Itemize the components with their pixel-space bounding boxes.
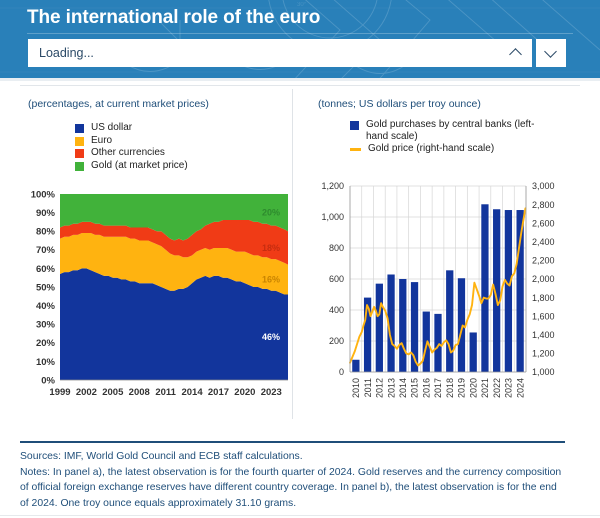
header-rule <box>27 33 573 34</box>
panel-b-ytick-right: 1,200 <box>532 349 555 359</box>
panel-a-ytick: 20% <box>36 338 56 349</box>
legend-item: Gold price (right-hand scale) <box>350 143 555 155</box>
legend-label: US dollar <box>91 122 132 134</box>
panel-b-ytick-right: 1,400 <box>532 330 555 340</box>
panel-b-xtick: 2021 <box>480 378 490 398</box>
panel-b-bar <box>470 332 477 372</box>
panel-a-end-label: 46% <box>262 332 280 342</box>
panel-a-legend: US dollar Euro Other currencies Gold (at… <box>75 122 188 172</box>
legend-swatch-gold-price <box>350 148 361 151</box>
chevron-down-icon <box>544 46 558 60</box>
panel-a-ytick: 10% <box>36 357 56 368</box>
panel-b-bar <box>376 284 383 372</box>
panel-a-ytick: 50% <box>36 282 56 293</box>
legend-item: Other currencies <box>75 147 188 159</box>
legend-swatch-other-currencies <box>75 149 84 158</box>
footer-notes: Sources: IMF, World Gold Council and ECB… <box>20 449 568 511</box>
panel-b-ytick-left: 1,200 <box>321 181 344 191</box>
panel-b-chart: 02004006008001,0001,2001,0001,2001,4001,… <box>302 176 580 426</box>
panel-b-ytick-right: 2,800 <box>532 200 555 210</box>
panel-a-ytick: 80% <box>36 227 56 238</box>
panel-b-ytick-right: 1,800 <box>532 293 555 303</box>
panel-b-ytick-left: 400 <box>329 305 344 315</box>
footer-sources: Sources: IMF, World Gold Council and ECB… <box>20 449 568 465</box>
panel-a-ytick: 90% <box>36 208 56 219</box>
legend-swatch-gold-purchases <box>350 121 359 130</box>
panel-b-ytick-left: 200 <box>329 336 344 346</box>
panel-b-bar <box>352 360 359 372</box>
chevron-up-icon[interactable] <box>509 46 523 60</box>
chapter-select[interactable]: Loading... <box>28 39 532 67</box>
page-header-banner: 30° The international role of the euro L… <box>0 0 600 78</box>
legend-item: Gold purchases by central banks (left-ha… <box>350 119 555 142</box>
page-title: The international role of the euro <box>27 7 320 29</box>
legend-label: Gold (at market price) <box>91 160 188 172</box>
panel-b-xtick: 2010 <box>351 378 361 398</box>
panel-b-xtick: 2013 <box>386 378 396 398</box>
panel-b-ytick-right: 2,200 <box>532 256 555 266</box>
panel-b-unit-label: (tonnes; US dollars per troy ounce) <box>318 98 481 110</box>
panel-b-ytick-left: 0 <box>339 367 344 377</box>
panel-a-ytick: 40% <box>36 301 56 312</box>
panel-b-xtick: 2014 <box>398 378 408 398</box>
panel-a-ytick: 0% <box>41 375 55 386</box>
panel-a-xtick: 2014 <box>181 387 203 398</box>
header-bottom-strip <box>0 78 600 81</box>
panel-b-ytick-left: 1,000 <box>321 212 344 222</box>
panel-b-ytick-left: 800 <box>329 243 344 253</box>
panel-a-ytick: 60% <box>36 264 56 275</box>
panel-a-xtick: 2008 <box>129 387 150 398</box>
panel-divider <box>292 89 293 419</box>
panel-b-ytick-right: 1,000 <box>532 367 555 377</box>
chapter-select-value: Loading... <box>39 46 94 60</box>
charts-card: (percentages, at current market prices) … <box>20 85 580 437</box>
legend-swatch-us-dollar <box>75 124 84 133</box>
euro-report-page: 30° The international role of the euro L… <box>0 0 600 518</box>
panel-b-xtick: 2023 <box>504 378 514 398</box>
panel-b-bar <box>399 279 406 372</box>
panel-b-bar <box>481 204 488 372</box>
panel-b-xtick: 2011 <box>363 378 373 397</box>
legend-label: Other currencies <box>91 147 165 159</box>
panel-b-xtick: 2017 <box>433 378 443 398</box>
panel-a-end-label: 16% <box>262 275 280 285</box>
panel-a-ytick: 100% <box>31 189 56 200</box>
panel-b-xtick: 2015 <box>410 378 420 398</box>
panel-a-end-label: 20% <box>262 208 280 218</box>
legend-swatch-gold <box>75 162 84 171</box>
legend-label: Gold purchases by central banks (left-ha… <box>366 119 555 142</box>
panel-b-xtick: 2016 <box>421 378 431 398</box>
panel-a-xtick: 2020 <box>234 387 255 398</box>
panel-a-xtick: 2011 <box>155 387 176 398</box>
panel-b-ytick-right: 2,000 <box>532 274 555 284</box>
footer-notes-text: Notes: In panel a), the latest observati… <box>20 465 568 512</box>
panel-a-chart: 0%10%20%30%40%50%60%70%80%90%100%20%18%1… <box>20 184 292 434</box>
panel-a-xtick: 2005 <box>102 387 124 398</box>
panel-a-xtick: 1999 <box>49 387 70 398</box>
panel-b-bar <box>434 314 441 372</box>
panel-a-xtick: 2017 <box>208 387 229 398</box>
panel-b-bar <box>364 298 371 372</box>
panel-b-xtick: 2022 <box>492 378 502 398</box>
footer-divider <box>20 441 565 443</box>
legend-item: Gold (at market price) <box>75 160 188 172</box>
panel-b-ytick-right: 1,600 <box>532 311 555 321</box>
panel-b-xtick: 2018 <box>445 378 455 398</box>
expand-button[interactable] <box>536 39 566 67</box>
panel-b-ytick-left: 600 <box>329 274 344 284</box>
panel-b-xtick: 2020 <box>468 378 478 398</box>
panel-b-xtick: 2019 <box>457 378 467 398</box>
panel-a-ytick: 30% <box>36 320 56 331</box>
legend-label: Gold price (right-hand scale) <box>368 143 494 155</box>
page-bottom-rule <box>0 515 600 516</box>
panel-b-bar <box>458 278 465 372</box>
panel-b-ytick-right: 3,000 <box>532 181 555 191</box>
panel-b-bar <box>505 210 512 372</box>
panel-a-ytick: 70% <box>36 245 56 256</box>
panel-a-end-label: 18% <box>262 243 280 253</box>
panel-b-ytick-right: 2,600 <box>532 218 555 228</box>
panel-b-ytick-right: 2,400 <box>532 237 555 247</box>
legend-item: Euro <box>75 135 188 147</box>
legend-item: US dollar <box>75 122 188 134</box>
panel-a-xtick: 2023 <box>261 387 282 398</box>
legend-swatch-euro <box>75 137 84 146</box>
panel-b-bar <box>446 270 453 372</box>
panel-b-xtick: 2024 <box>515 378 525 398</box>
chapter-selector-row: Loading... <box>28 39 566 67</box>
panel-b-bar <box>423 312 430 372</box>
legend-label: Euro <box>91 135 112 147</box>
panel-a-xtick: 2002 <box>76 387 97 398</box>
panel-b-legend: Gold purchases by central banks (left-ha… <box>350 119 555 156</box>
panel-b-xtick: 2012 <box>375 378 385 398</box>
panel-a-unit-label: (percentages, at current market prices) <box>28 98 209 110</box>
